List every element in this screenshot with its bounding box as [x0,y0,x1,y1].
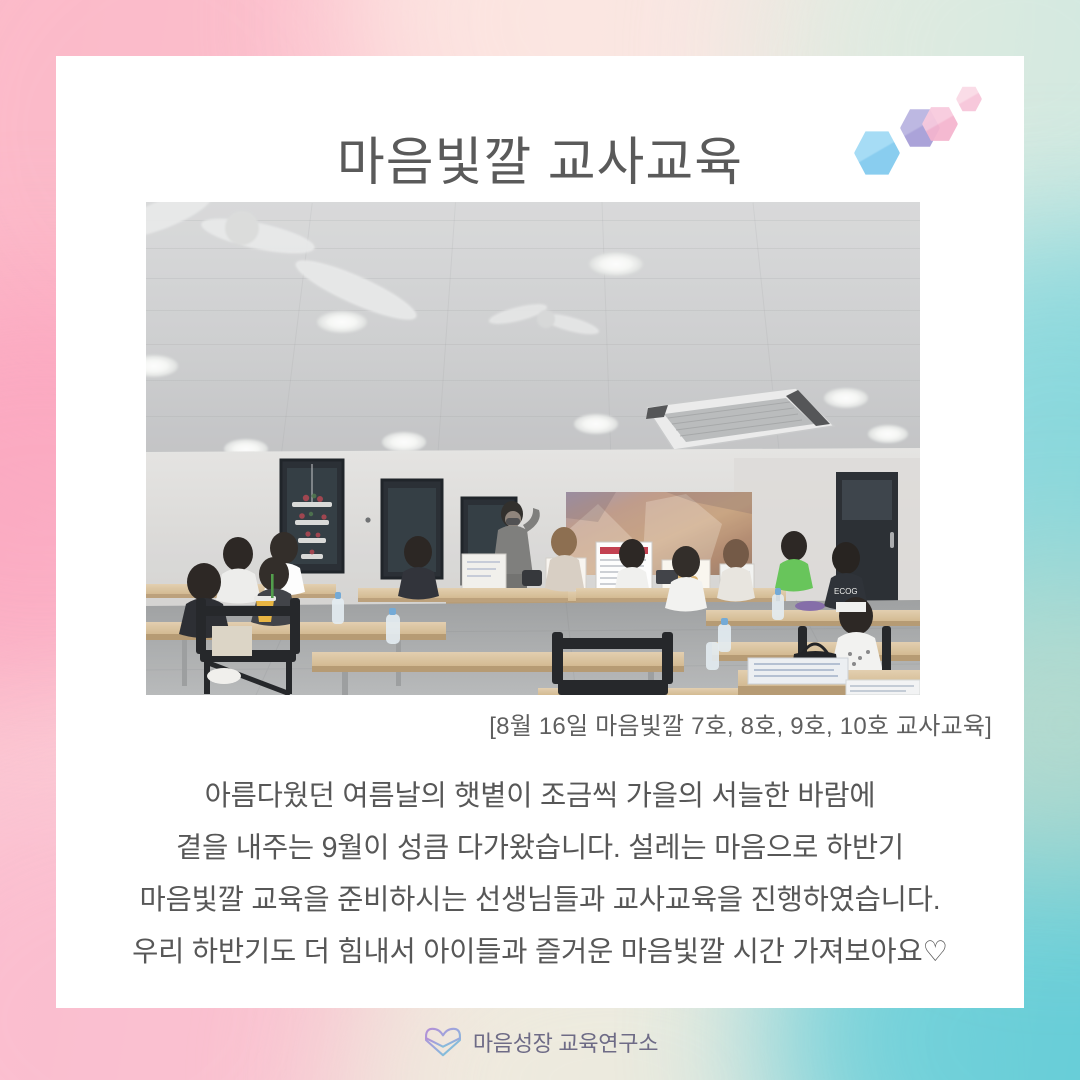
body-line-4: 우리 하반기도 더 힘내서 아이들과 즐거운 마음빛깔 시간 가져보아요♡ [56,926,1024,978]
hexagon-pink-small-icon [956,86,982,112]
page-title: 마음빛깔 교사교육 [56,120,1024,195]
poster-page: 마음빛깔 교사교육 [0,0,1080,1080]
heart-logo-icon [422,1026,464,1058]
classroom-photo-illustration: ECOG [146,202,920,695]
body-paragraph: 아름다웠던 여름날의 햇볕이 조금씩 가을의 서늘한 바람에 곁을 내주는 9월… [56,770,1024,978]
footer-brand: 마음성장 교육연구소 [0,1026,1080,1058]
footer-brand-text: 마음성장 교육연구소 [473,1026,658,1058]
body-line-3: 마음빛깔 교육을 준비하시는 선생님들과 교사교육을 진행하였습니다. [56,874,1024,926]
body-line-1: 아름다웠던 여름날의 햇볕이 조금씩 가을의 서늘한 바람에 [56,770,1024,822]
body-line-2: 곁을 내주는 9월이 성큼 다가왔습니다. 설레는 마음으로 하반기 [56,822,1024,874]
photo-caption: [8월 16일 마음빛깔 7호, 8호, 9호, 10호 교사교육] [56,706,992,741]
content-card: 마음빛깔 교사교육 [56,56,1024,1008]
event-photo: ECOG [146,202,920,695]
